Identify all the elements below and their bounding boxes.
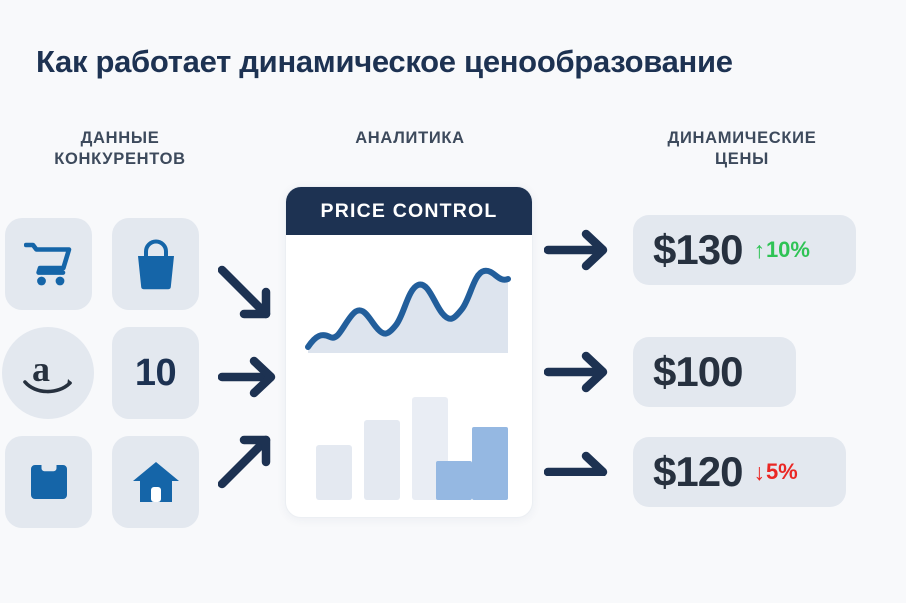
bar-5 [472, 427, 508, 500]
arrow-right-icon-price-2 [548, 456, 603, 476]
column-label-prices-line2: ЦЕНЫ [592, 149, 892, 170]
price-delta-value: 5% [766, 461, 798, 483]
competitor-source-grid: a 10 [5, 218, 215, 528]
source-tile-ten[interactable]: 10 [112, 327, 199, 419]
column-label-competitors: ДАННЫЕ КОНКУРЕНТОВ [0, 128, 240, 170]
arrow-right-icon-price-1 [548, 356, 603, 388]
price-value: $120 [653, 451, 742, 493]
arrow-up-icon: ↑ [753, 239, 765, 262]
source-tile-shopping-bag[interactable] [112, 218, 199, 310]
arrow-down-icon: ↓ [753, 461, 765, 484]
dashboard-body [286, 235, 532, 518]
arrow-right-icon-price-0 [548, 234, 603, 266]
page-title: Как работает динамическое ценообразовани… [36, 44, 733, 80]
bar-1 [316, 445, 352, 500]
trend-area-chart [302, 261, 518, 370]
column-label-competitors-line1: ДАННЫЕ [0, 128, 240, 149]
price-delta-badge: ↑ 10% [753, 239, 810, 262]
shopping-bag-icon [133, 238, 179, 290]
shopping-cart-icon [24, 241, 74, 287]
price-card[interactable]: $120 ↓ 5% [633, 437, 846, 507]
arrow-up-right-icon [222, 440, 266, 484]
price-value: $100 [653, 351, 742, 393]
source-tile-basket[interactable] [5, 436, 92, 528]
home-icon [131, 459, 181, 505]
dashboard-header: PRICE CONTROL [286, 187, 532, 235]
dashboard-title: PRICE CONTROL [320, 200, 497, 223]
price-delta-value: 10% [766, 239, 810, 261]
price-control-dashboard-card: PRICE CONTROL [285, 186, 533, 518]
number-ten-text: 10 [135, 352, 176, 395]
price-bar-chart [302, 383, 518, 508]
arrows-dashboard-to-prices [544, 226, 630, 476]
basket-box-icon [27, 461, 71, 503]
price-card[interactable]: $130 ↑ 10% [633, 215, 856, 285]
price-delta-badge: ↓ 5% [753, 461, 797, 484]
source-tile-home[interactable] [112, 436, 199, 528]
price-card[interactable]: $100 [633, 337, 796, 407]
column-label-dynamic-prices: ДИНАМИЧЕСКИЕ ЦЕНЫ [592, 128, 892, 170]
bar-4 [436, 461, 472, 500]
source-tile-amazon[interactable]: a [2, 327, 94, 419]
column-label-competitors-line2: КОНКУРЕНТОВ [0, 149, 240, 170]
column-label-prices-line1: ДИНАМИЧЕСКИЕ [592, 128, 892, 149]
source-tile-shopping-cart[interactable] [5, 218, 92, 310]
arrow-down-right-icon [222, 270, 266, 314]
price-value: $130 [653, 229, 742, 271]
trend-area-fill [308, 271, 508, 353]
arrow-right-icon [222, 361, 271, 393]
column-label-analytics: АНАЛИТИКА [290, 128, 530, 149]
bar-2 [364, 420, 400, 500]
svg-text:a: a [32, 349, 50, 389]
amazon-logo-icon: a [20, 349, 76, 397]
